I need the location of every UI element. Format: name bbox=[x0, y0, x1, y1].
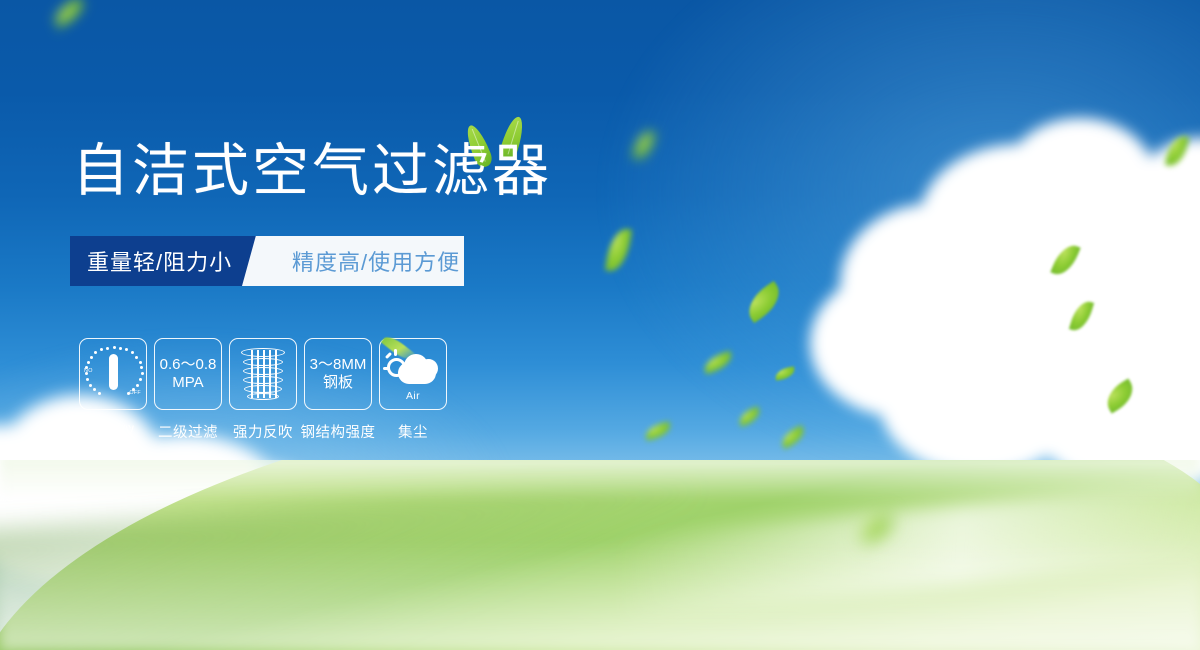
air-label: Air bbox=[385, 390, 441, 402]
pressure-line-2: MPA bbox=[160, 374, 217, 392]
cumulus-cloud-icon bbox=[800, 118, 1200, 478]
feature-caption: 集尘 bbox=[398, 421, 428, 442]
feature-item-control-dial[interactable]: NO OFF 控制仪 bbox=[79, 338, 147, 442]
steel-plate-text-icon: 3～8MM 钢板 bbox=[310, 356, 367, 393]
feature-caption: 二级过滤 bbox=[158, 421, 218, 442]
feature-item-steel[interactable]: 3～8MM 钢板 钢结构强度 bbox=[304, 338, 372, 442]
dial-off-label: OFF bbox=[129, 390, 141, 396]
subtitle-right-text: 精度高/使用方便 bbox=[270, 245, 460, 277]
feature-caption: 钢结构强度 bbox=[301, 421, 376, 442]
subtitle-left-panel: 重量轻/阻力小 bbox=[70, 236, 270, 286]
subtitle-bar: 重量轻/阻力小 精度高/使用方便 bbox=[70, 236, 464, 286]
feature-item-pressure[interactable]: 0.6～0.8 MPA 二级过滤 bbox=[154, 338, 222, 442]
feature-list: NO OFF 控制仪 0.6～0.8 MPA 二级过滤 bbox=[79, 338, 447, 442]
subtitle-left-text: 重量轻/阻力小 bbox=[70, 245, 232, 277]
feature-icon-box: 3～8MM 钢板 bbox=[304, 338, 372, 410]
feature-icon-box: 0.6～0.8 MPA bbox=[154, 338, 222, 410]
feature-icon-box: Air bbox=[379, 338, 447, 410]
subtitle-right-panel: 精度高/使用方便 bbox=[270, 236, 464, 286]
feature-item-dust[interactable]: Air 集尘 bbox=[379, 338, 447, 442]
filter-coil-icon bbox=[240, 347, 286, 401]
green-hill-icon bbox=[0, 460, 1200, 650]
feature-icon-box bbox=[229, 338, 297, 410]
feature-icon-box: NO OFF bbox=[79, 338, 147, 410]
feature-caption: 强力反吹 bbox=[233, 421, 293, 442]
feature-caption: 控制仪 bbox=[91, 421, 136, 442]
dial-on-label: NO bbox=[84, 368, 93, 374]
steel-line-2: 钢板 bbox=[310, 374, 367, 392]
feature-item-backblow[interactable]: 强力反吹 bbox=[229, 338, 297, 442]
pressure-text-icon: 0.6～0.8 MPA bbox=[160, 356, 217, 393]
air-cloud-icon: Air bbox=[385, 348, 441, 400]
banner-root: 自洁式空气过滤器 重量轻/阻力小 精度高/使用方便 bbox=[0, 0, 1200, 650]
pressure-line-1: 0.6～0.8 bbox=[160, 356, 217, 374]
steel-line-1: 3～8MM bbox=[310, 356, 367, 374]
page-title: 自洁式空气过滤器 bbox=[72, 143, 552, 200]
control-dial-icon: NO OFF bbox=[84, 345, 142, 403]
